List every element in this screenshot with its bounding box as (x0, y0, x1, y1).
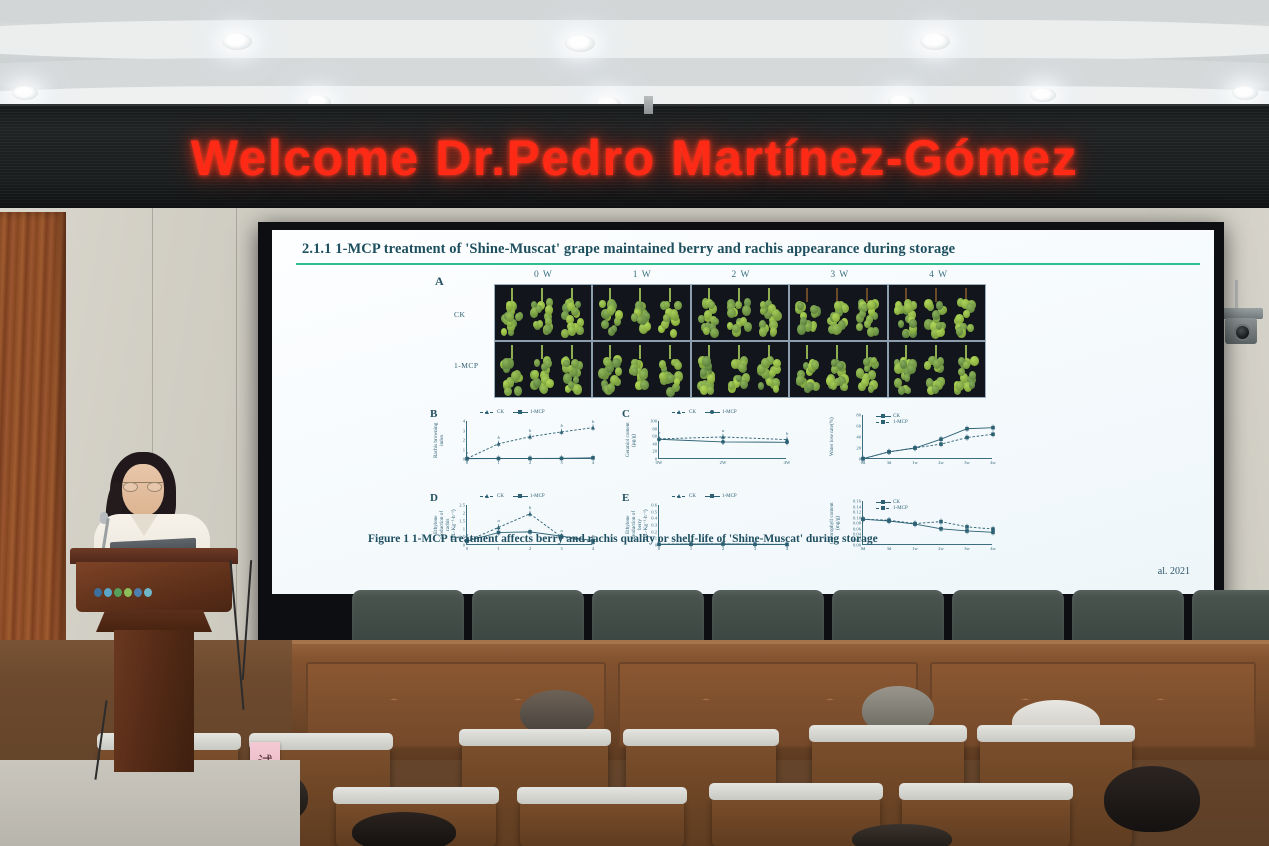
chart-panel-letter: E (622, 492, 629, 504)
chart-legend: CK1-MCP (672, 410, 737, 415)
lecture-hall-scene: Welcome Dr.Pedro Martínez-Gómez 2.1.1 1-… (0, 0, 1269, 846)
grape-bunch-photo (889, 342, 985, 397)
chart-legend: CK1-MCP (876, 414, 908, 425)
audience-head (852, 824, 952, 846)
chart-y-tick: 2.5 (459, 503, 467, 508)
figure-citation: al. 2021 (1158, 566, 1190, 577)
chart-legend-item: 1-MCP (876, 506, 908, 511)
grape-bunch-photo (593, 342, 689, 397)
camera-lens (1234, 324, 1251, 341)
podium (70, 548, 238, 772)
title-underline (296, 263, 1200, 265)
camera-mount-arm (1235, 280, 1238, 310)
grape-bunch-photo (790, 342, 886, 397)
chart-legend-item: CK (672, 410, 696, 415)
chart-x-tick: 3d (887, 458, 892, 465)
podium-emblem-dot (104, 588, 112, 597)
chart-legend: CK1-MCP (480, 494, 545, 499)
chart-x-tick: 2w (938, 458, 944, 465)
chart-significance-label: b (529, 505, 531, 510)
chart-plot-area: 0123401234abbbb (466, 421, 592, 459)
podium-bevel (96, 610, 212, 632)
chart-y-tick: 20 (856, 446, 863, 451)
chart-significance-label: b (561, 423, 563, 428)
row-label-1mcp: 1-MCP (454, 361, 479, 370)
chart-y-tick: 0.14 (853, 504, 863, 509)
chart-x-tick: 1w (912, 458, 918, 465)
chart-legend-item: 1-MCP (876, 420, 908, 425)
chart-legend-item: 1-MCP (513, 494, 545, 499)
chart-legend-label: CK (689, 494, 696, 499)
audience-head (352, 812, 456, 846)
ceiling-downlight (222, 33, 252, 50)
chart-legend: CK1-MCP (672, 494, 737, 499)
chart-legend-item: 1-MCP (513, 410, 545, 415)
chart-significance-label: a (498, 518, 500, 523)
chart-y-tick: 0.4 (651, 516, 659, 521)
grape-bunch-photo (495, 342, 591, 397)
slide-title: 2.1.1 1-MCP treatment of 'Shine-Muscat' … (302, 241, 1198, 258)
chart-y-tick: 0.6 (651, 503, 659, 508)
chart-legend-item: CK (876, 414, 900, 419)
chart-legend-item: CK (876, 500, 900, 505)
chart-legend-label: 1-MCP (722, 410, 737, 415)
chart-significance-label: b (786, 431, 788, 436)
podium-emblem-dot (134, 588, 142, 597)
ceiling-downlight (1232, 86, 1258, 100)
chart-y-tick: 20 (652, 449, 659, 454)
grape-bunch-photo (790, 285, 886, 340)
chart-legend-item: 1-MCP (705, 410, 737, 415)
chart-x-tick: 2W (720, 458, 727, 465)
chart-y-axis-label: Rachis browning index (434, 421, 446, 459)
chart-panel-letter: B (430, 408, 437, 420)
panel-a-column-headers: 0 W 1 W 2 W 3 W 4 W (494, 270, 988, 280)
banner-hanger (644, 96, 653, 114)
chart-y-tick: 1.5 (459, 519, 467, 524)
podium-emblem (94, 586, 152, 598)
panel-a-row-labels: CK 1-MCP (454, 292, 479, 370)
chart-plot-area: 0204060801000W2W4Wbab (658, 421, 786, 459)
figure-caption-line1: Figure 1 1-MCP treatment affects berry a… (368, 533, 803, 545)
chart-y-tick: 60 (856, 424, 863, 429)
audience-head (1104, 766, 1200, 832)
chart-panel-letter: D (430, 492, 438, 504)
ceiling-downlight (12, 86, 38, 100)
grape-bunch-photo (495, 285, 591, 340)
grape-bunch-photo (889, 285, 985, 340)
column-header-1w: 1 W (593, 270, 692, 280)
chart-y-tick: 100 (650, 419, 659, 424)
chart-y-tick: 0.12 (853, 510, 863, 515)
glasses-lens (123, 482, 138, 492)
ceiling-arc-band (0, 20, 1269, 60)
chart-panel-water-loss: Water lose rate(%)0204060800d3d1w2w3w4wC… (828, 402, 998, 470)
chart-y-tick: 0.16 (853, 499, 863, 504)
grape-photo-grid (494, 284, 986, 398)
chart-significance-label: b (658, 430, 660, 435)
chart-legend-label: CK (497, 494, 504, 499)
chart-panel-b: BRachis browning index0123401234abbbbCK1… (432, 408, 598, 470)
chart-y-tick: 80 (856, 413, 863, 418)
chart-significance-label: a (722, 428, 724, 433)
chart-legend-label: 1-MCP (893, 420, 908, 425)
chart-y-axis-label: Water lose rate(%) (830, 415, 836, 459)
ceiling-downlight (1030, 88, 1056, 102)
ceiling-downlight (920, 33, 950, 50)
figure-caption-line2: during storage (806, 533, 878, 545)
chart-y-tick: 0.06 (853, 526, 863, 531)
chart-y-tick: 40 (652, 441, 659, 446)
chart-significance-label: a (466, 450, 468, 455)
chart-legend-label: 1-MCP (722, 494, 737, 499)
ceiling (0, 0, 1269, 118)
podium-column (114, 630, 194, 772)
ceiling-downlight (565, 35, 595, 52)
chart-legend-item: 1-MCP (705, 494, 737, 499)
glasses-lens (147, 482, 162, 492)
chart-legend: CK1-MCP (876, 500, 908, 511)
chart-significance-label: b (498, 435, 500, 440)
chart-y-tick: 0.5 (651, 509, 659, 514)
chart-x-tick: 0W (656, 458, 663, 465)
chart-panel-letter: C (622, 408, 630, 420)
chart-legend-label: CK (689, 410, 696, 415)
row-label-ck: CK (454, 310, 479, 319)
presentation-slide: 2.1.1 1-MCP treatment of 'Shine-Muscat' … (272, 230, 1214, 594)
column-header-3w: 3 W (790, 270, 889, 280)
chart-x-tick: 4W (784, 458, 791, 465)
chart-y-axis-label: Geraniol content (µg/g) (626, 421, 638, 459)
chart-significance-label: b (592, 419, 594, 424)
podium-emblem-dot (94, 588, 102, 597)
chart-legend-label: 1-MCP (893, 506, 908, 511)
podium-emblem-dot (124, 588, 132, 597)
grape-bunch-photo (692, 342, 788, 397)
podium-front (76, 562, 232, 612)
audience-seat (520, 800, 684, 846)
column-header-0w: 0 W (494, 270, 593, 280)
chart-series-layer (659, 421, 787, 459)
chart-legend: CK1-MCP (480, 410, 545, 415)
chart-legend-label: CK (893, 414, 900, 419)
chart-panel-c: CGeraniol content (µg/g)0204060801000W2W… (624, 408, 792, 470)
chart-legend-label: 1-MCP (530, 494, 545, 499)
chart-significance-label: b (529, 428, 531, 433)
led-welcome-banner: Welcome Dr.Pedro Martínez-Gómez (0, 104, 1269, 212)
front-floor (0, 760, 300, 846)
chart-legend-label: CK (497, 410, 504, 415)
chart-x-tick: 4w (990, 458, 996, 465)
chart-legend-label: CK (893, 500, 900, 505)
led-banner-text: Welcome Dr.Pedro Martínez-Gómez (191, 129, 1078, 187)
grape-bunch-photo (593, 285, 689, 340)
chart-legend-item: CK (480, 494, 504, 499)
podium-emblem-dot (114, 588, 122, 597)
chart-legend-label: 1-MCP (530, 410, 545, 415)
podium-emblem-dot (144, 588, 152, 597)
column-header-4w: 4 W (889, 270, 988, 280)
chart-y-tick: 0.3 (651, 523, 659, 528)
figure-caption: Figure 1 1-MCP treatment affects berry a… (368, 532, 1148, 548)
chart-x-tick: 3w (964, 458, 970, 465)
grape-bunch-photo (692, 285, 788, 340)
chart-y-tick: 0.08 (853, 521, 863, 526)
chart-y-tick: 40 (856, 435, 863, 440)
chart-legend-item: CK (672, 494, 696, 499)
chart-legend-item: CK (480, 410, 504, 415)
column-header-2w: 2 W (692, 270, 791, 280)
panel-a-letter: A (435, 274, 444, 289)
